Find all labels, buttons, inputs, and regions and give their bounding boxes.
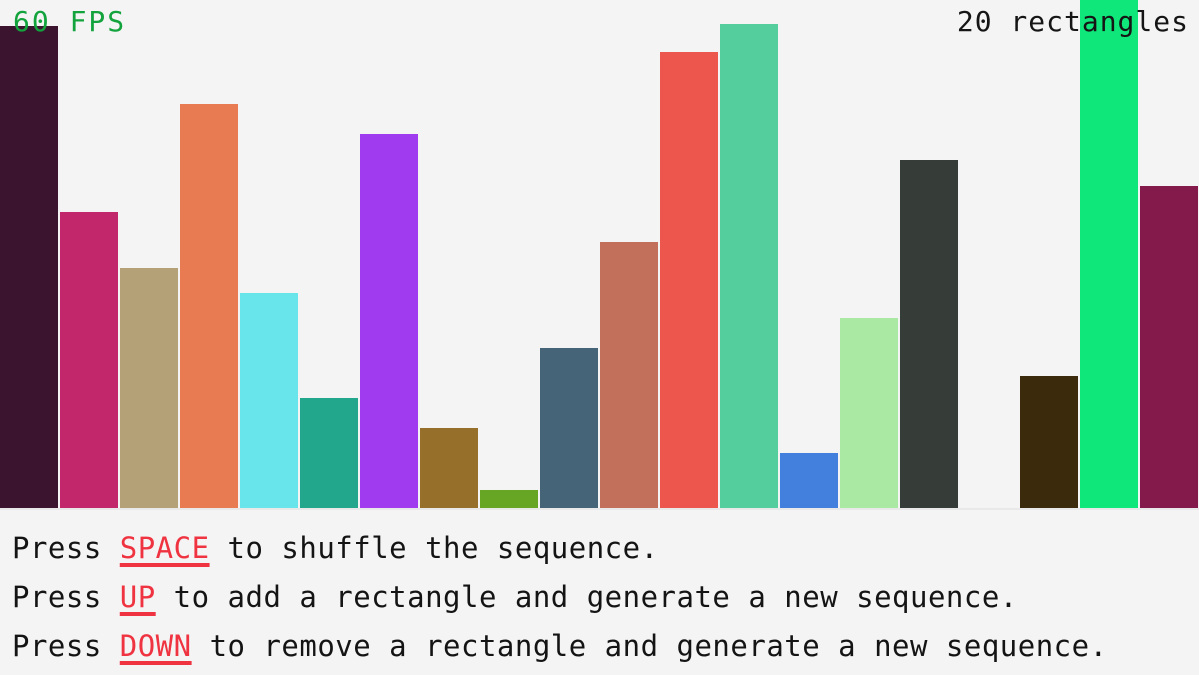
bar-7-violet: [360, 134, 418, 508]
instruction-line-2: Press UP to add a rectangle and generate…: [12, 573, 1199, 622]
bar-11-terracotta: [600, 242, 658, 508]
bar-19-bright-green: [1080, 0, 1138, 508]
instruction-suffix: to remove a rectangle and generate a new…: [192, 629, 1108, 663]
bar-5-cyan: [240, 293, 298, 508]
instructions-panel: Press SPACE to shuffle the sequence.Pres…: [0, 516, 1199, 675]
instruction-line-3: Press DOWN to remove a rectangle and gen…: [12, 622, 1199, 671]
rectangle-sequence-chart: [0, 0, 1199, 508]
fps-counter: 60 FPS: [13, 8, 126, 36]
rectangle-count-label: 20 rectangles: [957, 8, 1189, 36]
bar-3-tan: [120, 268, 178, 508]
bar-14-blue: [780, 453, 838, 508]
bar-16-charcoal: [900, 160, 958, 508]
bar-2-magenta: [60, 212, 118, 508]
key-down[interactable]: DOWN: [120, 629, 192, 663]
instruction-prefix: Press: [12, 580, 120, 614]
bar-13-mint: [720, 24, 778, 508]
bar-15-light-green: [840, 318, 898, 508]
bar-20-dark-magenta: [1140, 186, 1198, 508]
bar-4-orange: [180, 104, 238, 508]
instruction-line-1: Press SPACE to shuffle the sequence.: [12, 524, 1199, 573]
bar-10-slate-blue: [540, 348, 598, 508]
instruction-prefix: Press: [12, 531, 120, 565]
instruction-prefix: Press: [12, 629, 120, 663]
key-space[interactable]: SPACE: [120, 531, 210, 565]
instruction-suffix: to add a rectangle and generate a new se…: [156, 580, 1018, 614]
bar-6-teal: [300, 398, 358, 508]
bar-18-dark-brown: [1020, 376, 1078, 508]
bar-12-red: [660, 52, 718, 508]
app-canvas[interactable]: 60 FPS 20 rectangles Press SPACE to shuf…: [0, 0, 1199, 675]
instruction-suffix: to shuffle the sequence.: [210, 531, 659, 565]
bar-8-dark-gold: [420, 428, 478, 508]
chart-baseline: [0, 508, 1199, 510]
key-up[interactable]: UP: [120, 580, 156, 614]
bar-9-leaf-green: [480, 490, 538, 508]
bar-1-dark-plum: [0, 26, 58, 508]
